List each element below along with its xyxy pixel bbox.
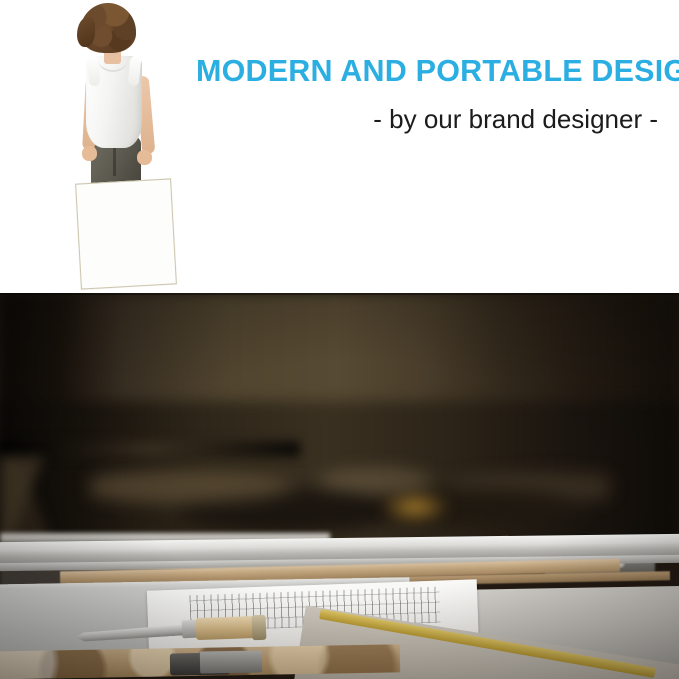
top-text-panel: MODERN AND PORTABLE DESIGN - by our bran… xyxy=(0,0,679,293)
boy-left-hand xyxy=(82,146,97,161)
boy-hair xyxy=(80,3,136,53)
boy-right-hand xyxy=(137,150,152,165)
chisel-handle xyxy=(196,616,259,640)
boy-holding-board-figure xyxy=(36,0,182,293)
photo-top-edge xyxy=(0,293,679,295)
workshop-warm-glow xyxy=(380,491,450,523)
blank-board xyxy=(75,178,177,289)
chisel-end-cap xyxy=(252,615,267,640)
headline-text: MODERN AND PORTABLE DESIGN xyxy=(196,55,664,89)
subheadline-text: - by our brand designer - xyxy=(196,105,658,135)
product-banner: MODERN AND PORTABLE DESIGN - by our bran… xyxy=(0,0,679,679)
saw-throat-plate xyxy=(200,650,262,673)
carpenter-workshop-photo xyxy=(0,293,679,679)
